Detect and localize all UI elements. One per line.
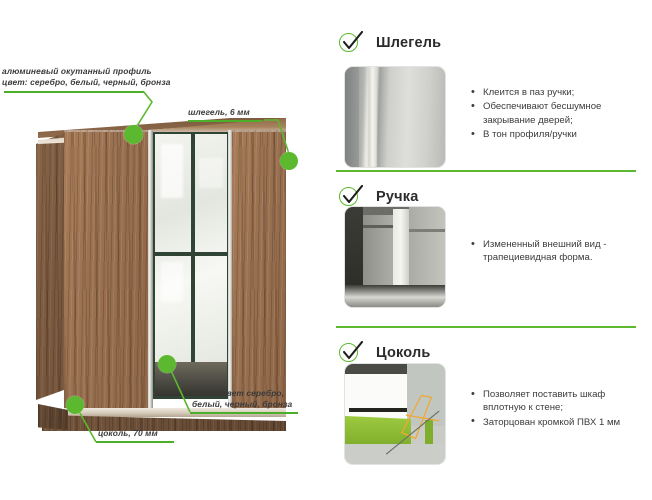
feature-thumbnail-ruchka[interactable] (344, 206, 446, 308)
feature-bullets-ruchka: Измененный внешний вид - трапециевидная … (470, 238, 646, 266)
photo-panel-seam (363, 225, 393, 228)
marker-dot-handles (158, 355, 176, 373)
section-divider (336, 170, 636, 172)
bullet-item: Клеится в паз ручки; (470, 86, 642, 99)
photo-shadow-band (345, 67, 359, 167)
shlegel-brush-seal-photo (345, 67, 445, 167)
photo-panel-seam (409, 229, 445, 232)
annotation-profile: алюминевый окутанный профиль цвет: сереб… (2, 66, 170, 88)
annotation-profile-line1: алюминевый окутанный профиль (2, 66, 170, 77)
handle-trapezoid-photo (345, 207, 445, 307)
feature-title-cokol: Цоколь (376, 345, 431, 361)
check-mark-icon (340, 30, 366, 56)
feature-bullets-cokol: Позволяет поставить шкаф вплотную к стен… (470, 388, 650, 430)
bullet-item: Заторцован кромкой ПВХ 1 мм (470, 416, 650, 429)
photo-handle-profile (393, 209, 409, 295)
photo-door-panel-b (409, 207, 445, 285)
bullet-item: Позволяет поставить шкаф вплотную к стен… (470, 388, 650, 415)
section-divider (336, 326, 636, 328)
sliding-door-left (64, 130, 150, 408)
annotation-profile-line2: цвет: серебро, белый, черный, бронза (2, 77, 170, 88)
photo-highlight-overlay (345, 364, 445, 464)
feature-header-shlegel: Шлегель (338, 30, 441, 56)
bullet-item: Обеспечивают бесшумное закрывание дверей… (470, 100, 642, 127)
annotation-shlegel-connector (180, 116, 310, 186)
marker-dot-profile (124, 125, 143, 144)
feature-title-shlegel: Шлегель (376, 35, 441, 51)
bullet-item: Измененный внешний вид - трапециевидная … (470, 238, 646, 265)
feature-title-ruchka: Ручка (376, 189, 418, 205)
cabinet-side-panel (36, 132, 66, 400)
bullet-item: В тон профиля/ручки (470, 128, 642, 141)
feature-thumbnail-shlegel[interactable] (344, 66, 446, 168)
wardrobe-illustration-panel: алюминевый окутанный профиль цвет: сереб… (0, 0, 320, 500)
glass-reflection (161, 262, 183, 302)
feature-thumbnail-cokol[interactable] (344, 363, 446, 465)
feature-bullets-shlegel: Клеится в паз ручки; Обеспечивают бесшум… (470, 86, 642, 143)
features-panel: Шлегель Клеится в паз ручки; Обеспечиваю… (320, 0, 652, 500)
infographic-page: алюминевый окутанный профиль цвет: сереб… (0, 0, 652, 500)
marker-dot-plinth (66, 396, 84, 414)
glass-mullion-horizontal (155, 252, 227, 256)
check-circle-icon (338, 30, 364, 56)
marker-dot-shlegel (280, 152, 298, 170)
photo-brush-strip (368, 67, 377, 167)
annotation-profile-connector (0, 88, 170, 168)
photo-floor-rail (345, 285, 445, 307)
plinth-green-photo (345, 364, 445, 464)
